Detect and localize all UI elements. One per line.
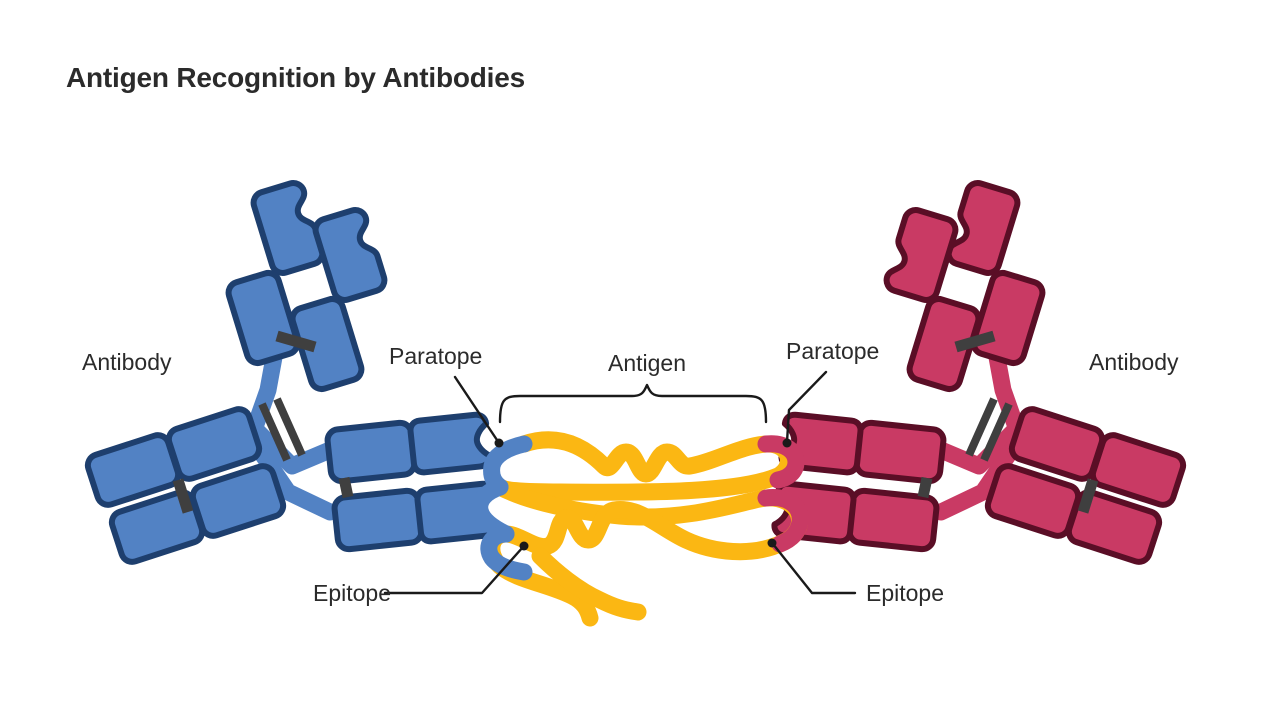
antibody-left-fab-binding — [327, 414, 498, 551]
antibody-right-fc — [985, 406, 1186, 564]
antibody-right-disulfide-binding — [923, 478, 927, 497]
epitope-left-dot — [520, 542, 529, 551]
label-epitope-right: Epitope — [866, 580, 944, 606]
diagram-canvas: Antigen Recognition by Antibodies — [0, 0, 1280, 713]
antigen-backbone — [492, 440, 800, 618]
epitope-left-leader — [385, 547, 523, 593]
antibody-right-fab-upper — [884, 180, 1045, 392]
antibody-left-disulfide-binding — [344, 478, 348, 497]
antigen-chain[interactable] — [480, 440, 801, 618]
antibody-left-fab-upper — [226, 180, 387, 392]
label-paratope-right: Paratope — [786, 338, 879, 364]
label-paratope-left: Paratope — [389, 343, 482, 369]
antibody-left-fc — [85, 406, 286, 564]
label-antibody-right: Antibody — [1089, 349, 1179, 375]
label-antibody-left: Antibody — [82, 349, 172, 375]
antibody-antigen-figure: Antibody Paratope Antigen Paratope Antib… — [0, 0, 1280, 713]
paratope-left-dot — [495, 439, 504, 448]
paratope-right-dot — [783, 439, 792, 448]
epitope-right-leader — [773, 544, 855, 593]
epitope-right-dot — [768, 539, 777, 548]
antigen-brace — [500, 385, 766, 422]
label-antigen: Antigen — [608, 350, 686, 376]
label-epitope-left: Epitope — [313, 580, 391, 606]
